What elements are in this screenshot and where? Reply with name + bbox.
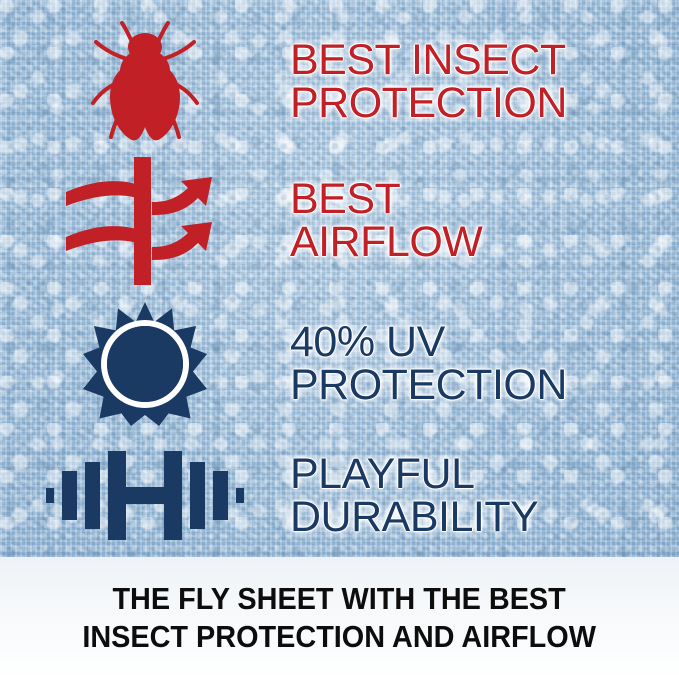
feature-label-insect-protection: BEST INSECTPROTECTION: [290, 39, 679, 125]
sun-uv-icon-cell: [0, 300, 290, 428]
feature-label-durability: PLAYFULDURABILITY: [290, 453, 679, 539]
feature-row-uv-protection: 40% UVPROTECTION: [0, 300, 679, 428]
fly-icon: [86, 19, 204, 145]
feature-label-uv-protection: 40% UVPROTECTION: [290, 321, 679, 407]
footer-tagline: THE FLY SHEET WITH THE BESTINSECT PROTEC…: [83, 580, 597, 656]
feature-label-line2: PROTECTION: [290, 364, 679, 407]
sun-uv-icon: [81, 300, 209, 428]
feature-label-line2: AIRFLOW: [290, 221, 679, 264]
uv-protection-label-cell: 40% UVPROTECTION: [290, 321, 679, 407]
insect-protection-label-cell: BEST INSECTPROTECTION: [290, 39, 679, 125]
feature-row-durability: PLAYFULDURABILITY: [0, 443, 679, 548]
dumbbell-icon-cell: [0, 443, 290, 548]
dumbbell-icon: [45, 443, 245, 548]
feature-label-line2: DURABILITY: [290, 496, 679, 539]
airflow-label-cell: BESTAIRFLOW: [290, 178, 679, 264]
feature-row-airflow: BESTAIRFLOW: [0, 155, 679, 287]
airflow-icon-cell: [0, 155, 290, 287]
feature-label-airflow: BESTAIRFLOW: [290, 178, 679, 264]
durability-label-cell: PLAYFULDURABILITY: [290, 453, 679, 539]
footer-tagline-line1: THE FLY SHEET WITH THE BEST: [83, 580, 597, 618]
feature-label-line1: BEST: [290, 178, 679, 221]
airflow-icon: [60, 155, 230, 287]
fly-icon-cell: [0, 19, 290, 145]
footer-tagline-line2: INSECT PROTECTION AND AIRFLOW: [83, 618, 597, 656]
footer-banner: THE FLY SHEET WITH THE BESTINSECT PROTEC…: [0, 557, 679, 679]
feature-label-line1: BEST INSECT: [290, 39, 679, 82]
feature-row-insect-protection: BEST INSECTPROTECTION: [0, 18, 679, 146]
feature-label-line2: PROTECTION: [290, 82, 679, 125]
product-feature-poster: BEST INSECTPROTECTION BESTAIRFLOW: [0, 0, 679, 679]
feature-label-line1: 40% UV: [290, 321, 679, 364]
feature-label-line1: PLAYFUL: [290, 453, 679, 496]
